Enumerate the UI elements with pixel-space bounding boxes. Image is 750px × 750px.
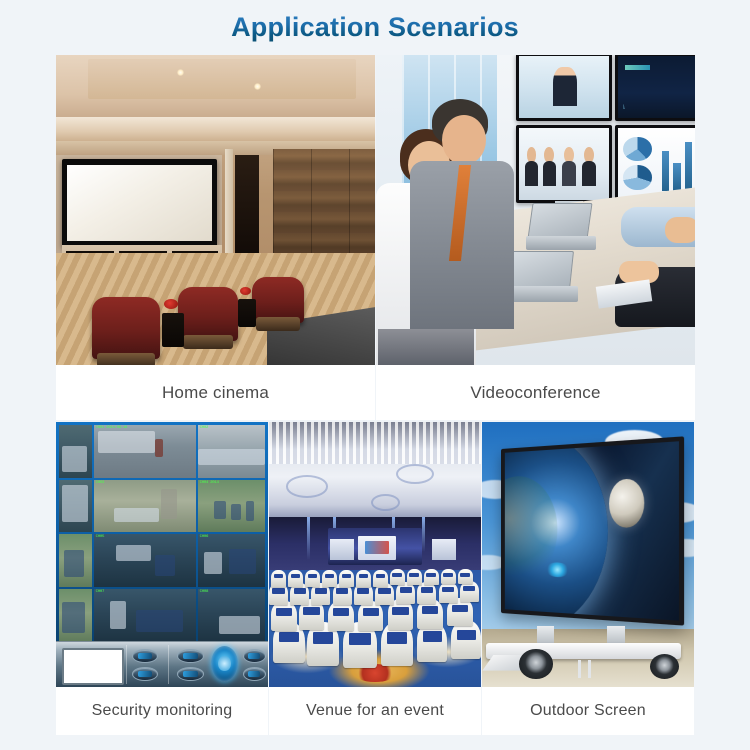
scenario-card-home-cinema[interactable]: Home cinema — [56, 55, 375, 420]
dvr-button[interactable] — [177, 649, 204, 663]
scenario-row-2: CH01 2014-06-18 CH02 CH03 CH04 2014 — [56, 422, 695, 735]
scenario-card-videoconference[interactable]: Videoconference — [376, 55, 695, 420]
dvr-button[interactable] — [243, 667, 266, 681]
dvr-dpad[interactable] — [211, 646, 239, 682]
projection-screen — [62, 159, 217, 247]
camera-grid: CH01 2014-06-18 CH02 CH03 CH04 2014 — [59, 425, 265, 642]
videoconference-photo — [376, 55, 695, 365]
outdoor-screen-photo — [482, 422, 694, 687]
dvr-control-panel — [56, 641, 268, 687]
application-scenarios-page: Application Scenarios — [0, 0, 750, 750]
led-screen — [501, 436, 685, 626]
dvr-button[interactable] — [177, 667, 204, 681]
trailer-wheel — [650, 654, 679, 679]
scenario-grid: Home cinema — [56, 55, 695, 735]
scenario-row-1: Home cinema — [56, 55, 695, 420]
security-monitoring-photo: CH01 2014-06-18 CH02 CH03 CH04 2014 — [56, 422, 268, 687]
dvr-button[interactable] — [132, 667, 157, 681]
chair-rows — [269, 549, 481, 666]
page-title: Application Scenarios — [0, 12, 750, 43]
scenario-caption: Videoconference — [376, 365, 695, 420]
scenario-caption: Venue for an event — [269, 687, 481, 735]
trailer-wheel — [519, 649, 552, 679]
scenario-caption: Outdoor Screen — [482, 687, 694, 735]
home-cinema-photo — [56, 55, 375, 365]
scenario-card-venue-event[interactable]: Venue for an event — [269, 422, 481, 735]
screen-trailer — [486, 626, 681, 679]
scenario-caption: Home cinema — [56, 365, 375, 420]
dvr-button[interactable] — [132, 649, 157, 663]
scenario-caption: Security monitoring — [56, 687, 268, 735]
dvr-button[interactable] — [243, 649, 266, 663]
venue-event-photo — [269, 422, 481, 687]
scenario-card-outdoor-screen[interactable]: Outdoor Screen — [482, 422, 694, 735]
scenario-card-security-monitoring[interactable]: CH01 2014-06-18 CH02 CH03 CH04 2014 — [56, 422, 268, 735]
dvr-display — [62, 648, 123, 684]
